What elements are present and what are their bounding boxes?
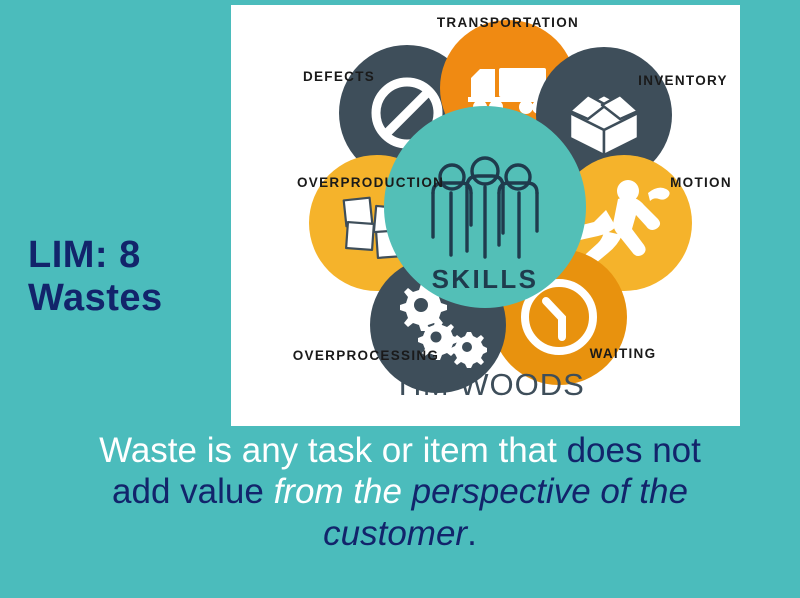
label-motion: MOTION — [670, 175, 732, 190]
label-overprocessing: OVERPROCESSING — [293, 348, 439, 363]
caption-line2-navy: add value — [112, 472, 274, 511]
caption-line1-white: Waste is any task or item that — [99, 431, 566, 470]
caption-line2-white-italic: from the — [274, 472, 412, 511]
caption-period: . — [467, 514, 477, 553]
diagram-footer-label: TIM WOODS — [393, 367, 585, 402]
label-inventory: INVENTORY — [638, 73, 728, 88]
caption-text: Waste is any task or item that does not … — [0, 430, 800, 554]
caption-line1-navy: does not — [567, 431, 701, 470]
diagram-card: HUMAN POTENTIAL — [231, 5, 740, 426]
slide-root: LIM: 8 Wastes — [0, 0, 800, 598]
center-arc-text: HUMAN POTENTIAL — [231, 5, 506, 11]
label-waiting: WAITING — [590, 346, 657, 361]
tim-woods-diagram: HUMAN POTENTIAL — [231, 5, 740, 426]
label-overproduction: OVERPRODUCTION — [297, 175, 444, 190]
page-title-line-2: Wastes — [28, 277, 228, 320]
caption-line3-navy-italic: customer — [323, 514, 467, 553]
page-title-line-1: LIM: 8 — [28, 234, 228, 277]
label-defects: DEFECTS — [303, 69, 375, 84]
label-transportation: TRANSPORTATION — [437, 15, 579, 30]
page-title: LIM: 8 Wastes — [28, 234, 228, 319]
caption-line2-navy-italic: perspective of the — [412, 472, 688, 511]
center-bottom-text: SKILLS — [432, 264, 539, 294]
